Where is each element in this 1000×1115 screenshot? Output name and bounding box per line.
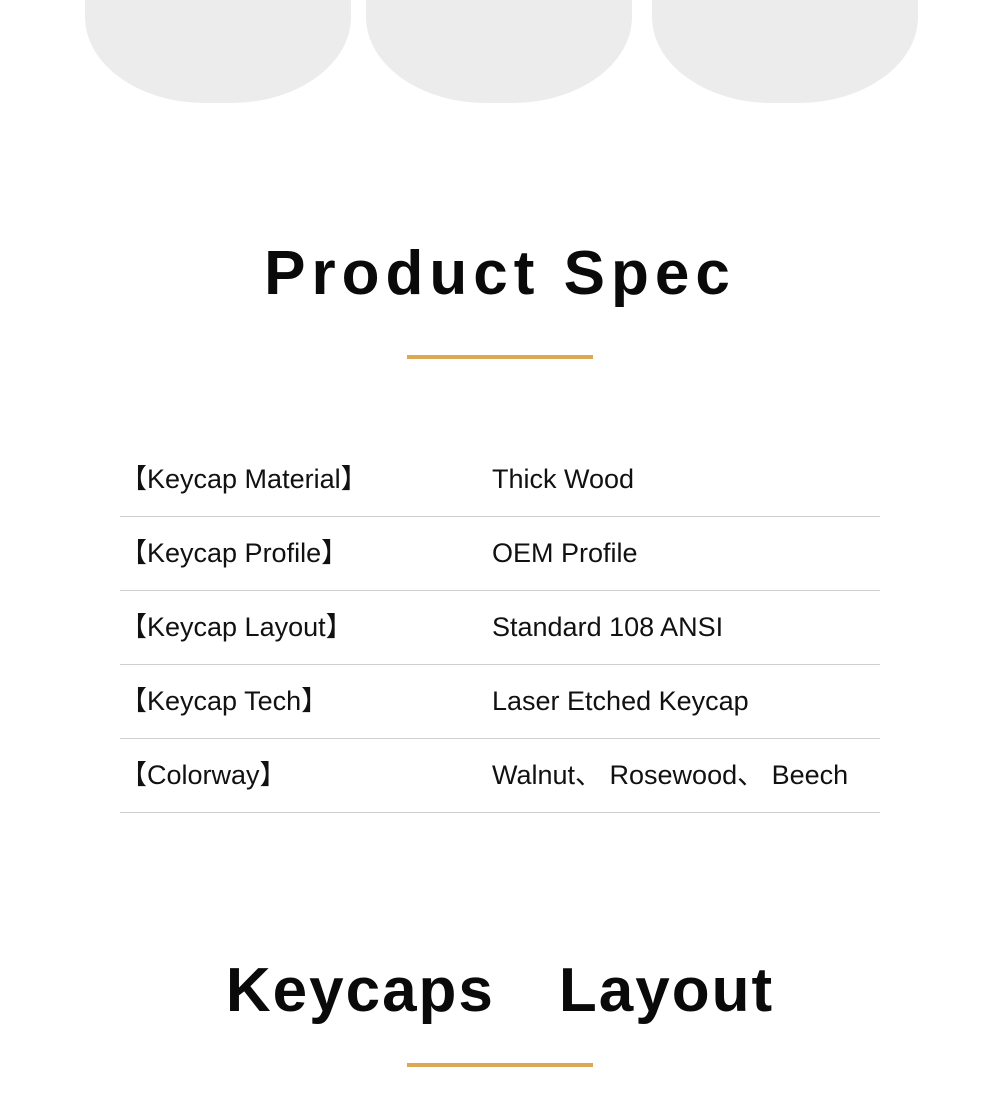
spec-label: 【Keycap Tech】 [120, 685, 492, 717]
spec-value: Walnut、 Rosewood、 Beech [492, 759, 880, 791]
spec-label: 【Keycap Material】 [120, 463, 492, 495]
spec-value: OEM Profile [492, 537, 880, 569]
top-keycap-decoration [0, 0, 1000, 108]
product-spec-heading-rule [407, 355, 593, 359]
spec-value: Standard 108 ANSI [492, 611, 880, 643]
table-row: 【Keycap Layout】 Standard 108 ANSI [120, 591, 880, 665]
spec-value: Thick Wood [492, 463, 880, 495]
table-row: 【Keycap Profile】 OEM Profile [120, 517, 880, 591]
spec-value: Laser Etched Keycap [492, 685, 880, 717]
keycap-shape-2 [366, 0, 632, 103]
table-row: 【Keycap Tech】 Laser Etched Keycap [120, 665, 880, 739]
product-spec-table: 【Keycap Material】 Thick Wood 【Keycap Pro… [120, 443, 880, 813]
product-spec-heading: Product Spec [0, 243, 1000, 305]
keycap-shape-3 [652, 0, 918, 103]
spec-label: 【Keycap Profile】 [120, 537, 492, 569]
table-row: 【Colorway】 Walnut、 Rosewood、 Beech [120, 739, 880, 813]
keycaps-layout-heading: Keycaps Layout [0, 960, 1000, 1022]
spec-label: 【Keycap Layout】 [120, 611, 492, 643]
keycaps-layout-heading-rule [407, 1063, 593, 1067]
table-row: 【Keycap Material】 Thick Wood [120, 443, 880, 517]
spec-label: 【Colorway】 [120, 759, 492, 791]
keycap-shape-1 [85, 0, 351, 103]
